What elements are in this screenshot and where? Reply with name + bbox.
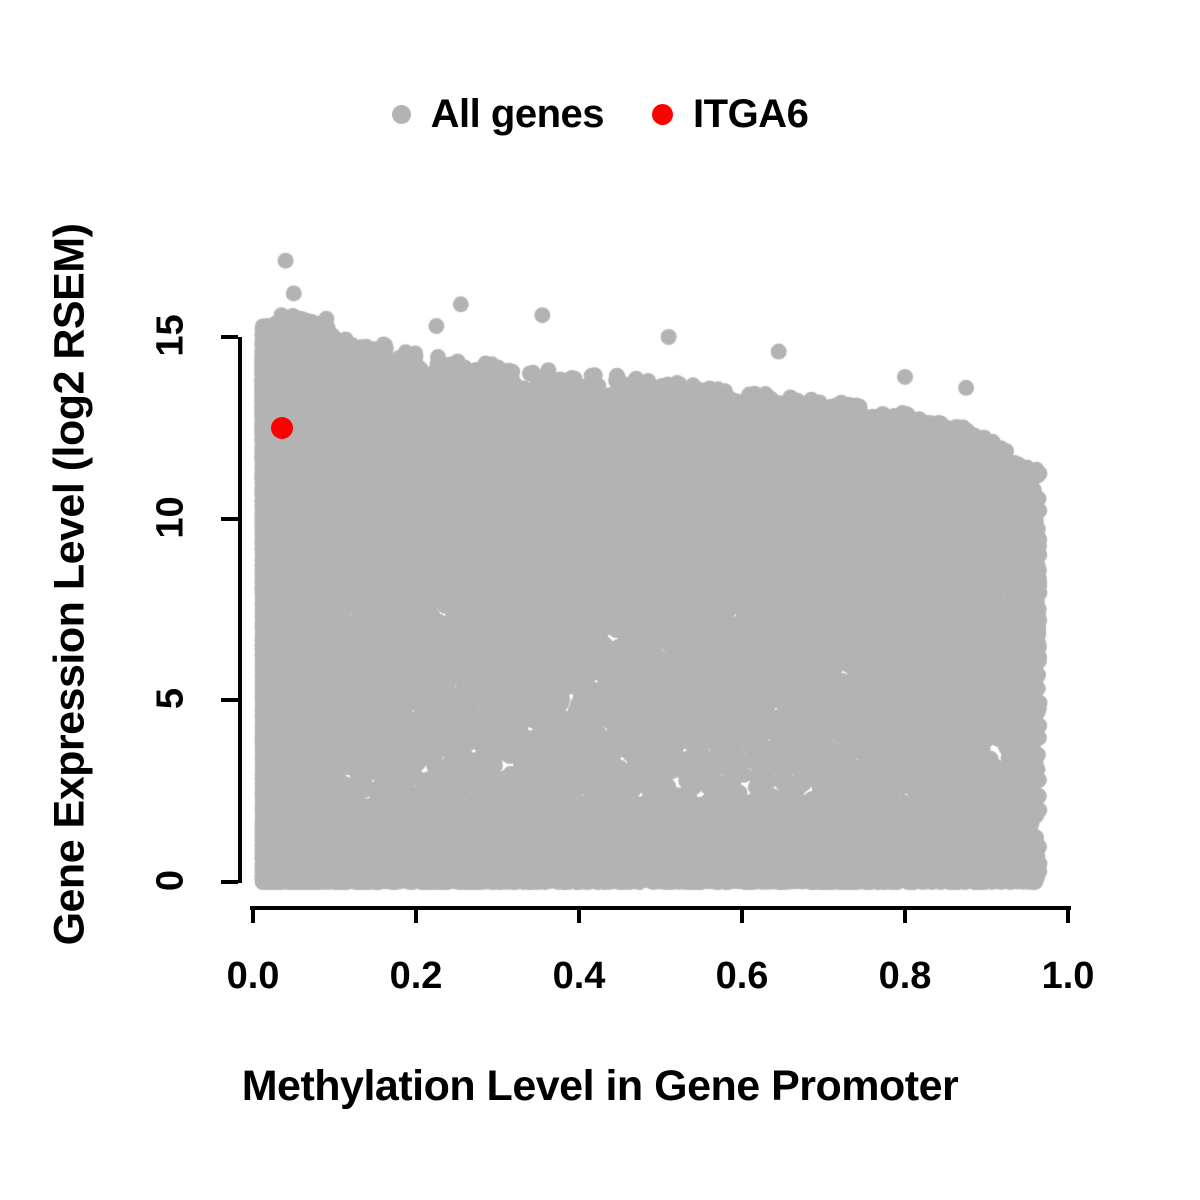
scatter-points-layer — [0, 0, 1200, 1200]
x-axis-title: Methylation Level in Gene Promoter — [0, 1062, 1200, 1111]
itga6-data-point[interactable] — [271, 417, 293, 439]
scatter-plot-figure: All genes ITGA6 051015 0.00.20.40.60.81.… — [0, 0, 1200, 1200]
x-tick-0.8 — [903, 906, 907, 923]
x-tick-0.6 — [740, 906, 744, 923]
x-tick-0.4 — [577, 906, 581, 923]
y-axis-title: Gene Expression Level (log2 RSEM) — [46, 0, 95, 1185]
x-tick-label-0.0: 0.0 — [193, 955, 313, 998]
x-tick-label-0.4: 0.4 — [519, 955, 639, 998]
y-tick-0 — [221, 880, 238, 884]
y-tick-label-10: 10 — [150, 477, 193, 557]
plot-region: 051015 0.00.20.40.60.81.0 — [0, 0, 1200, 1200]
x-tick-label-0.6: 0.6 — [682, 955, 802, 998]
x-tick-label-1.0: 1.0 — [1008, 955, 1128, 998]
y-tick-15 — [221, 335, 238, 339]
y-tick-10 — [221, 517, 238, 521]
x-tick-0.2 — [414, 906, 418, 923]
x-tick-1.0 — [1066, 906, 1070, 923]
y-tick-label-15: 15 — [150, 296, 193, 376]
x-axis-line — [250, 906, 1071, 910]
y-tick-5 — [221, 698, 238, 702]
x-tick-label-0.2: 0.2 — [356, 955, 476, 998]
y-tick-label-0: 0 — [150, 841, 193, 921]
y-tick-label-5: 5 — [150, 659, 193, 739]
x-tick-label-0.8: 0.8 — [845, 955, 965, 998]
y-axis-line — [238, 337, 242, 883]
x-tick-0.0 — [251, 906, 255, 923]
